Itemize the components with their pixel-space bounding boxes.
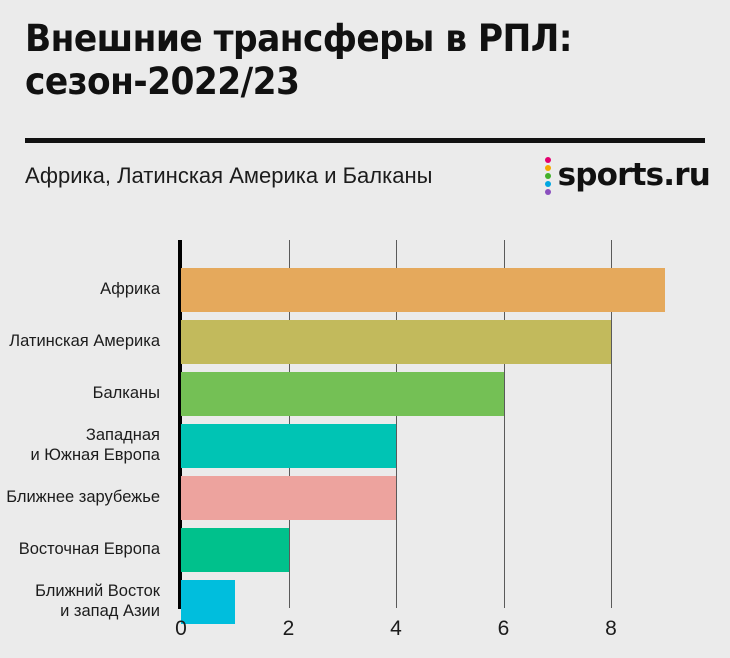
x-tick-label-0: 0 xyxy=(175,617,187,641)
sports-ru-logo[interactable]: sports.ru xyxy=(545,156,710,195)
bar-series xyxy=(181,240,721,608)
logo-dot-2 xyxy=(545,165,551,171)
bar-row[interactable] xyxy=(181,320,611,364)
logo-wordmark: sports.ru xyxy=(558,160,710,191)
logo-dot-5 xyxy=(545,189,551,195)
category-label: Ближний Восток и запад Азии xyxy=(0,580,168,624)
bar-row[interactable] xyxy=(181,580,235,624)
bar[interactable] xyxy=(181,476,396,520)
category-label: Ближнее зарубежье xyxy=(0,476,168,520)
logo-dot-4 xyxy=(545,181,551,187)
plot-area: 02468 xyxy=(181,240,721,608)
bar[interactable] xyxy=(181,372,504,416)
bar[interactable] xyxy=(181,320,611,364)
category-label: Западная и Южная Европа xyxy=(0,424,168,468)
bar[interactable] xyxy=(181,268,665,312)
x-tick-label-4: 4 xyxy=(390,617,402,641)
bar-row[interactable] xyxy=(181,528,289,572)
infographic-page: Внешние трансферы в РПЛ: сезон-2022/23 А… xyxy=(0,0,730,658)
x-tick-label-2: 2 xyxy=(283,617,295,641)
bar[interactable] xyxy=(181,528,289,572)
x-tick-label-6: 6 xyxy=(498,617,510,641)
bar-row[interactable] xyxy=(181,268,665,312)
bar-chart: 02468 АфрикаЛатинская АмерикаБалканыЗапа… xyxy=(0,236,730,658)
page-title: Внешние трансферы в РПЛ: сезон-2022/23 xyxy=(25,18,639,104)
category-label: Балканы xyxy=(0,372,168,416)
bar-row[interactable] xyxy=(181,372,504,416)
bar[interactable] xyxy=(181,424,396,468)
bar[interactable] xyxy=(181,580,235,624)
category-label: Восточная Европа xyxy=(0,528,168,572)
logo-dots-icon xyxy=(545,156,551,195)
bar-row[interactable] xyxy=(181,424,396,468)
header-divider xyxy=(25,138,705,143)
category-label: Африка xyxy=(0,268,168,312)
bar-row[interactable] xyxy=(181,476,396,520)
category-label: Латинская Америка xyxy=(0,320,168,364)
logo-dot-3 xyxy=(545,173,551,179)
x-tick-label-8: 8 xyxy=(605,617,617,641)
page-subtitle: Африка, Латинская Америка и Балканы xyxy=(25,160,455,191)
logo-dot-1 xyxy=(545,157,551,163)
